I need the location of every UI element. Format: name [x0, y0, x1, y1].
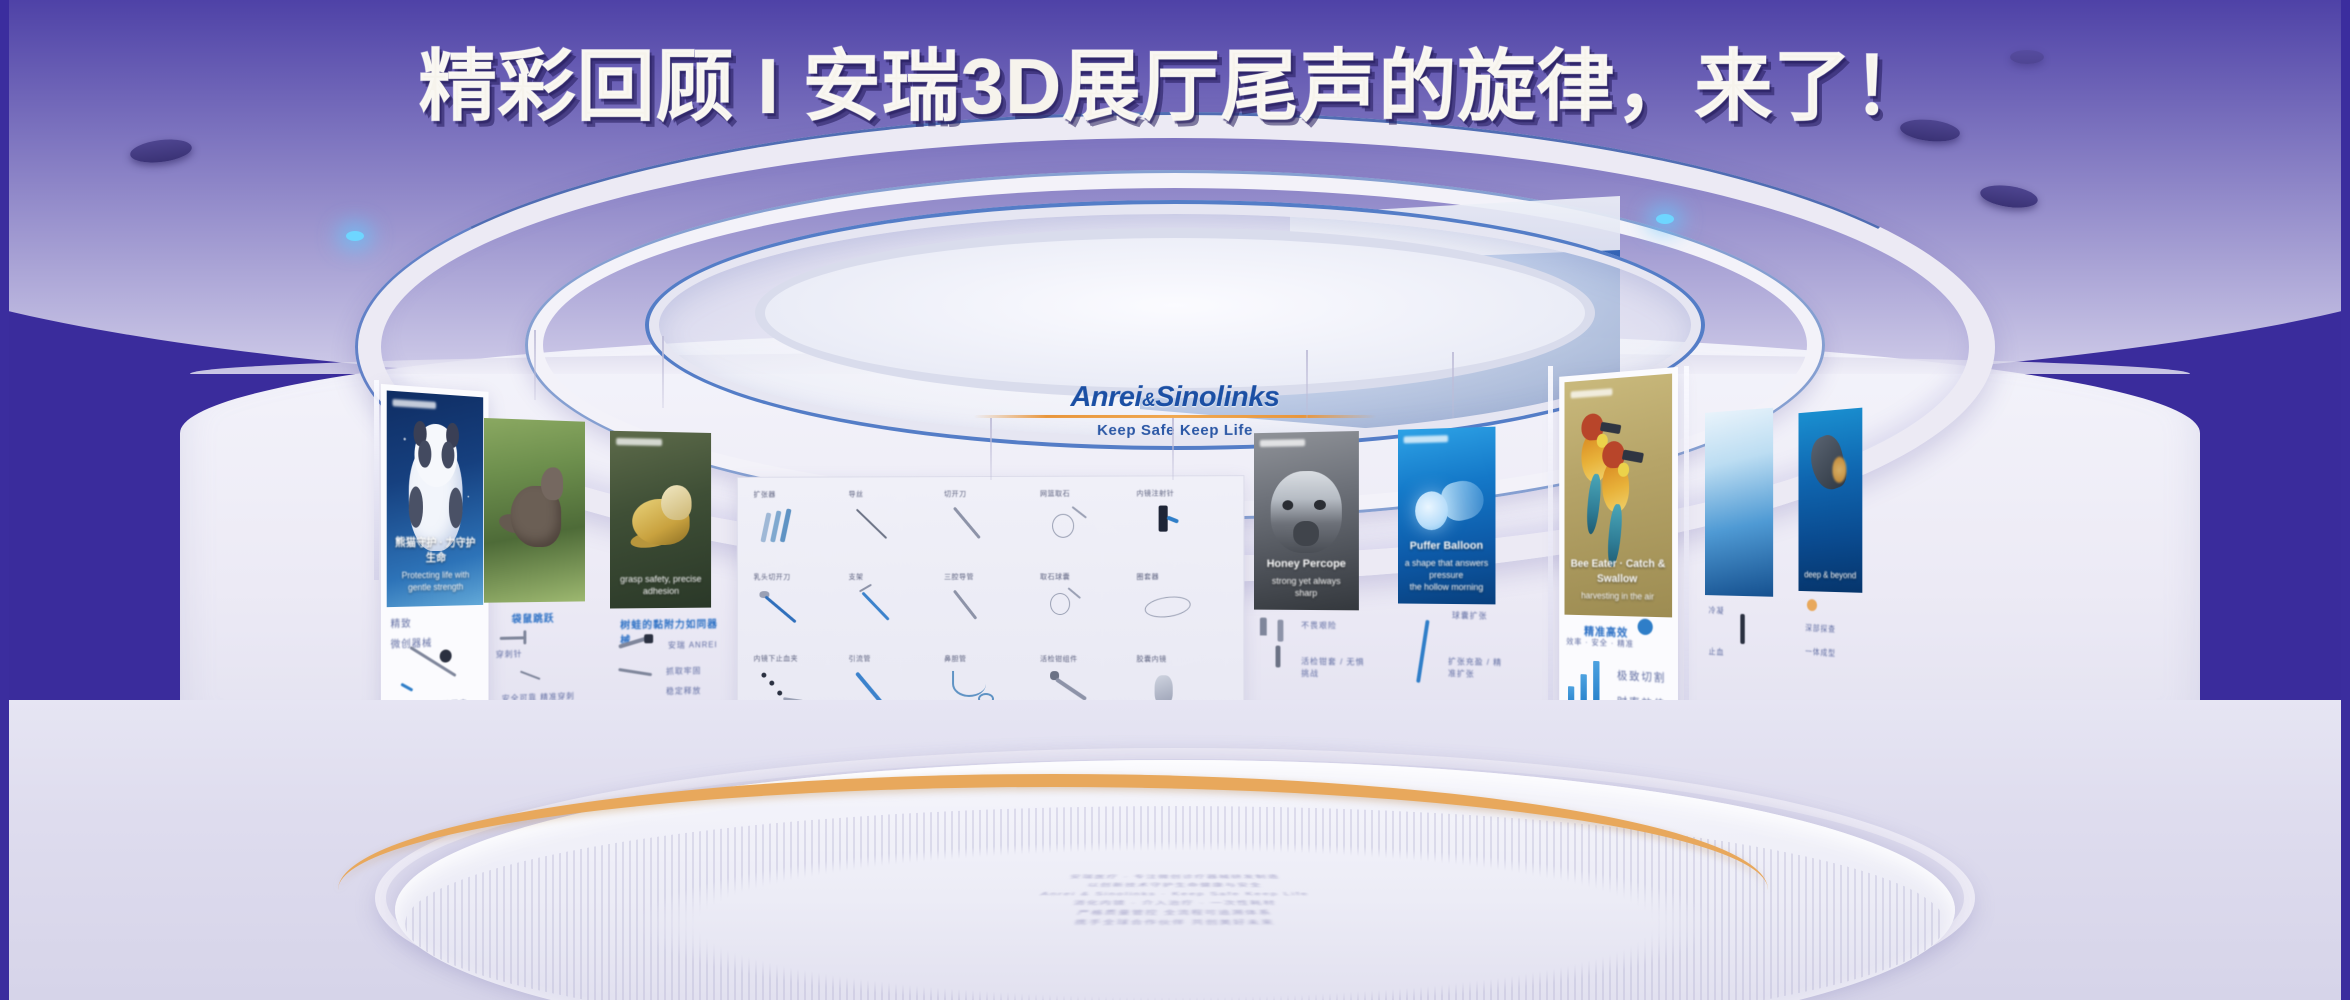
poster-sublabel-2: 止血	[1709, 646, 1725, 659]
poster-panel-honey-badger[interactable]: Honey Percope strong yet always sharp 不畏…	[1254, 413, 1369, 716]
poster-sublabel-1: 极致切割	[1617, 668, 1666, 687]
ceiling-accent-light	[346, 231, 364, 241]
product-cell[interactable]: 扩张器	[752, 489, 845, 569]
page-title: 精彩回顾 I 安瑞3D展厅尾声的旋律，来了！	[0, 24, 2350, 136]
device-illustration	[500, 636, 526, 640]
device-head-icon	[440, 649, 452, 662]
board-hanger-wire	[990, 418, 992, 480]
poster-art-panda: 熊猫守护 · 力守护生命 Protecting life with gentle…	[387, 390, 483, 607]
bee-eater-bird-2	[1596, 433, 1663, 574]
device-tip-icon	[400, 683, 413, 692]
bird-beak-icon	[1621, 449, 1643, 462]
device-marker-icon	[1807, 599, 1817, 611]
panda-arm-shape	[409, 486, 424, 527]
tool-basket-icon	[1044, 502, 1098, 548]
frame-edge-left	[0, 0, 9, 1000]
exhibition-hall-banner: Anrei&Sinolinks Keep Safe Keep Life 熊猫守护…	[0, 0, 2350, 1000]
poster-logo-icon	[1260, 439, 1305, 447]
device-balloon-catheter-icon	[1416, 620, 1429, 683]
device-illustration	[1740, 614, 1744, 644]
poster-sublabel-1: 穿刺针	[496, 648, 523, 661]
floor-text-line: 严格质量管控 全流程可追溯体系	[647, 908, 1704, 918]
ceiling-ring-core	[755, 228, 1595, 398]
poster-sublabel-2: 活检钳套 / 无惧挑战	[1301, 656, 1369, 681]
device-illustration	[1260, 618, 1267, 636]
tool-retrieval-balloon-icon	[1044, 585, 1098, 631]
floor-text-line: 以创新技术守护生命健康与安全	[688, 881, 1662, 889]
poster-art-honey-badger: Honey Percope strong yet always sharp	[1254, 431, 1359, 610]
tool-papillotome-icon	[757, 585, 810, 631]
product-cell[interactable]: 三腔导管	[942, 572, 1036, 653]
poster-sublabel-1: 抓取牢固	[666, 665, 701, 678]
panel-support-post	[374, 380, 379, 580]
panel-support-post	[1684, 366, 1689, 756]
poster-sublabel-1: 深部探查	[1805, 623, 1836, 637]
device-jaw-icon	[644, 634, 653, 643]
poster-sublabel-2: 微创器械	[391, 636, 433, 653]
poster-sublabel-note: 安瑞 ANREI	[668, 639, 718, 652]
seal-body-shape	[1806, 431, 1849, 494]
poster-art-frog: grasp safety, precise adhesion	[610, 431, 711, 609]
brand-mark-icon	[1638, 619, 1653, 636]
poster-caption-honey-badger: Honey Percope strong yet always sharp	[1260, 557, 1352, 599]
floor-printed-text: 安瑞医疗 · 专注微创诊疗器械研发制造 以创新技术守护生命健康与安全 Anrei…	[631, 873, 1719, 928]
poster-caption-ice	[1709, 584, 1769, 585]
tool-snare-icon	[1140, 585, 1194, 631]
tool-injection-needle-icon	[1140, 501, 1194, 547]
device-illustration	[1276, 646, 1281, 668]
product-cell[interactable]: 取石球囊	[1038, 572, 1132, 653]
product-cell[interactable]: 圈套器	[1134, 571, 1229, 652]
panda-eye-icon	[418, 440, 431, 468]
poster-art-bee-eater: Bee Eater · Catch & Swallow harvesting i…	[1564, 374, 1672, 618]
poster-sublabel-1: 球囊扩张	[1452, 610, 1488, 622]
tool-sphincterotome-icon	[948, 502, 1002, 548]
poster-logo-icon	[1571, 388, 1613, 398]
puffer-body-shape	[1415, 491, 1448, 530]
tool-guidewire-icon	[853, 502, 907, 548]
poster-hanger-wire	[1452, 352, 1454, 418]
poster-panel-seal[interactable]: deep & beyond 深部探查 一体成型	[1799, 394, 1874, 697]
poster-logo-icon	[1404, 435, 1448, 443]
poster-art-pufferfish: Puffer Balloon a shape that answers pres…	[1398, 427, 1496, 605]
floor-text-line: 消化内镜 · 介入治疗 · 一次性耗材	[661, 899, 1689, 908]
frame-edge-right	[2341, 0, 2350, 1000]
poster-sublabel-2: 稳定释放	[666, 685, 701, 698]
device-needle-icon	[523, 630, 526, 644]
poster-art-ice	[1705, 408, 1773, 597]
poster-art-seal: deep & beyond	[1799, 408, 1863, 593]
brand-name: Anrei&Sinolinks	[960, 382, 1390, 412]
poster-sublabel-1: 精致	[391, 617, 412, 633]
frog-head-shape	[661, 485, 691, 520]
board-hanger-wire	[1172, 418, 1174, 480]
product-cell[interactable]: 网篮取石	[1038, 489, 1132, 570]
poster-hanger-wire	[534, 330, 536, 400]
device-illustration	[520, 671, 541, 680]
poster-caption-pufferfish: Puffer Balloon a shape that answers pres…	[1404, 539, 1490, 594]
tool-dilator-icon	[757, 502, 810, 548]
poster-panel-ice[interactable]: 冷凝 止血	[1705, 397, 1782, 703]
poster-logo-icon	[616, 438, 662, 446]
poster-panel-bee-eater[interactable]: Bee Eater · Catch & Swallow harvesting i…	[1559, 367, 1678, 749]
poster-caption-seal: deep & beyond	[1802, 568, 1858, 581]
product-cell[interactable]: 支架	[847, 572, 940, 653]
poster-caption-bee-eater: Bee Eater · Catch & Swallow harvesting i…	[1571, 557, 1666, 603]
poster-panel-frog[interactable]: grasp safety, precise adhesion 树蛙的黏附力如同器…	[610, 402, 721, 711]
product-grid: 扩张器 导丝 切开刀 网篮取石 内镜注射针 乳头切开刀 支架	[752, 488, 1230, 735]
badger-snout-shape	[1293, 521, 1318, 546]
poster-logo-icon	[393, 400, 436, 410]
panel-support-post	[1548, 366, 1553, 756]
product-cell[interactable]: 导丝	[847, 489, 940, 570]
poster-sublabel-1: 不畏艰险	[1301, 620, 1337, 632]
poster-caption-panda: 熊猫守护 · 力守护生命 Protecting life with gentle…	[393, 536, 478, 594]
product-cell[interactable]: 内镜注射针	[1134, 488, 1229, 569]
bird-beak-icon	[1600, 421, 1621, 434]
poster-panel-panda[interactable]: 熊猫守护 · 力守护生命 Protecting life with gentle…	[381, 384, 489, 722]
poster-panel-pufferfish[interactable]: Puffer Balloon a shape that answers pres…	[1398, 414, 1508, 714]
poster-panel-kangaroo[interactable]: 袋鼠跳跃 穿刺针 安全可靠 精准穿刺	[484, 394, 593, 715]
poster-hanger-wire	[662, 336, 664, 408]
poster-caption-frog: grasp safety, precise adhesion	[616, 573, 705, 598]
poster-art-kangaroo	[484, 418, 585, 603]
poster-sublabel-1: 冷凝	[1709, 605, 1725, 617]
poster-sublabel-2: 扩张充盈 / 精准扩张	[1448, 656, 1507, 682]
virtual-hall-scene: Anrei&Sinolinks Keep Safe Keep Life 熊猫守护…	[0, 0, 2350, 1000]
poster-blue-label: 袋鼠跳跃	[512, 610, 555, 626]
panda-arm-shape	[448, 488, 462, 528]
kangaroo-head-shape	[541, 467, 563, 500]
floor-text-line: 携手全球合作伙伴 共创美好未来	[631, 918, 1719, 929]
tool-triple-lumen-icon	[948, 585, 1002, 631]
poster-hanger-wire	[1306, 350, 1308, 418]
bar-chart-label: 效率 · 安全 · 精准	[1566, 636, 1634, 651]
ceiling-accent-light-right	[1656, 214, 1674, 224]
poster-sublabel-2: 一体成型	[1805, 646, 1836, 660]
floor-text-line: Anrei & Sinolinks · Keep Safe Keep Life	[675, 890, 1675, 899]
floor-text-line: 安瑞医疗 · 专注微创诊疗器械研发制造	[700, 873, 1649, 881]
bird-throat-shape	[1618, 462, 1629, 476]
product-cell[interactable]: 乳头切开刀	[752, 572, 845, 652]
device-illustration	[618, 668, 652, 676]
tool-stent-icon	[853, 585, 907, 631]
device-illustration	[1278, 620, 1284, 642]
panda-eye-icon	[442, 441, 454, 469]
product-cell[interactable]: 切开刀	[942, 489, 1036, 570]
